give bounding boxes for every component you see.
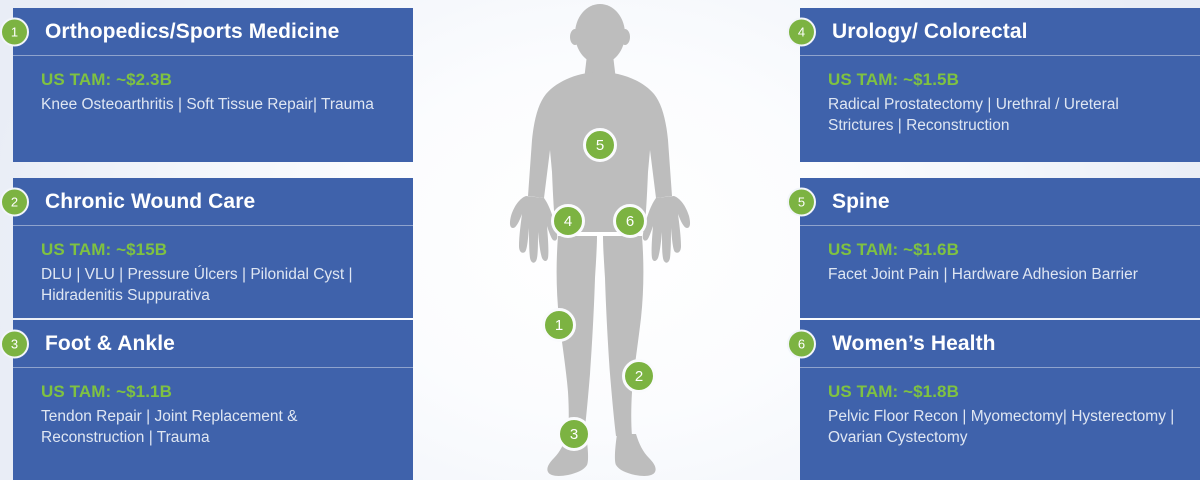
card-body: US TAM: ~$1.6B Facet Joint Pain | Hardwa…	[800, 226, 1200, 318]
segment-tam: US TAM: ~$2.3B	[41, 69, 401, 91]
segment-description: Pelvic Floor Recon | Myomectomy| Hystere…	[828, 403, 1188, 449]
card-header: 2 Chronic Wound Care	[13, 178, 413, 226]
segment-badge-2: 2	[0, 187, 29, 216]
segment-badge-3: 3	[0, 329, 29, 358]
segment-badge-6: 6	[787, 329, 816, 358]
card-header: 4 Urology/ Colorectal	[800, 8, 1200, 56]
card-body: US TAM: ~$15B DLU | VLU | Pressure Úlcer…	[13, 226, 413, 318]
segment-description: Tendon Repair | Joint Replacement & Reco…	[41, 403, 401, 449]
segment-card-womens-health[interactable]: 6 Women’s Health US TAM: ~$1.8B Pelvic F…	[800, 320, 1200, 480]
segment-card-urology-colorectal[interactable]: 4 Urology/ Colorectal US TAM: ~$1.5B Rad…	[800, 8, 1200, 162]
card-body: US TAM: ~$2.3B Knee Osteoarthritis | Sof…	[13, 56, 413, 162]
card-header: 3 Foot & Ankle	[13, 320, 413, 368]
segment-card-spine[interactable]: 5 Spine US TAM: ~$1.6B Facet Joint Pain …	[800, 178, 1200, 318]
segment-badge-1: 1	[0, 17, 29, 46]
segment-title: Women’s Health	[800, 332, 996, 356]
segment-description: Facet Joint Pain | Hardware Adhesion Bar…	[828, 261, 1188, 285]
card-header: 6 Women’s Health	[800, 320, 1200, 368]
card-body: US TAM: ~$1.8B Pelvic Floor Recon | Myom…	[800, 368, 1200, 480]
segment-description: Knee Osteoarthritis | Soft Tissue Repair…	[41, 91, 401, 115]
body-marker-womens-health[interactable]: 6	[613, 204, 647, 238]
segment-badge-5: 5	[787, 187, 816, 216]
body-marker-chronic-wound[interactable]: 2	[622, 359, 656, 393]
body-marker-spine[interactable]: 5	[583, 128, 617, 162]
human-silhouette-icon	[480, 0, 720, 480]
segment-description: DLU | VLU | Pressure Úlcers | Pilonidal …	[41, 261, 401, 307]
body-marker-urology[interactable]: 4	[551, 204, 585, 238]
segment-title: Chronic Wound Care	[13, 190, 255, 214]
card-body: US TAM: ~$1.1B Tendon Repair | Joint Rep…	[13, 368, 413, 480]
card-header: 5 Spine	[800, 178, 1200, 226]
human-body-diagram: 5 4 6 1 2 3	[480, 0, 720, 480]
segment-description: Radical Prostatectomy | Urethral / Urete…	[828, 91, 1188, 137]
segment-title: Urology/ Colorectal	[800, 20, 1028, 44]
segment-tam: US TAM: ~$1.6B	[828, 239, 1188, 261]
segment-title: Orthopedics/Sports Medicine	[13, 20, 339, 44]
segment-badge-4: 4	[787, 17, 816, 46]
segment-title: Foot & Ankle	[13, 332, 175, 356]
body-marker-foot-ankle[interactable]: 3	[557, 417, 591, 451]
segment-card-orthopedics[interactable]: 1 Orthopedics/Sports Medicine US TAM: ~$…	[13, 8, 413, 162]
segment-card-foot-and-ankle[interactable]: 3 Foot & Ankle US TAM: ~$1.1B Tendon Rep…	[13, 320, 413, 480]
segment-card-chronic-wound-care[interactable]: 2 Chronic Wound Care US TAM: ~$15B DLU |…	[13, 178, 413, 318]
infographic-canvas: 1 Orthopedics/Sports Medicine US TAM: ~$…	[0, 0, 1200, 480]
card-header: 1 Orthopedics/Sports Medicine	[13, 8, 413, 56]
segment-tam: US TAM: ~$1.8B	[828, 381, 1188, 403]
card-body: US TAM: ~$1.5B Radical Prostatectomy | U…	[800, 56, 1200, 162]
segment-tam: US TAM: ~$1.1B	[41, 381, 401, 403]
body-marker-orthopedics[interactable]: 1	[542, 308, 576, 342]
segment-tam: US TAM: ~$1.5B	[828, 69, 1188, 91]
segment-tam: US TAM: ~$15B	[41, 239, 401, 261]
